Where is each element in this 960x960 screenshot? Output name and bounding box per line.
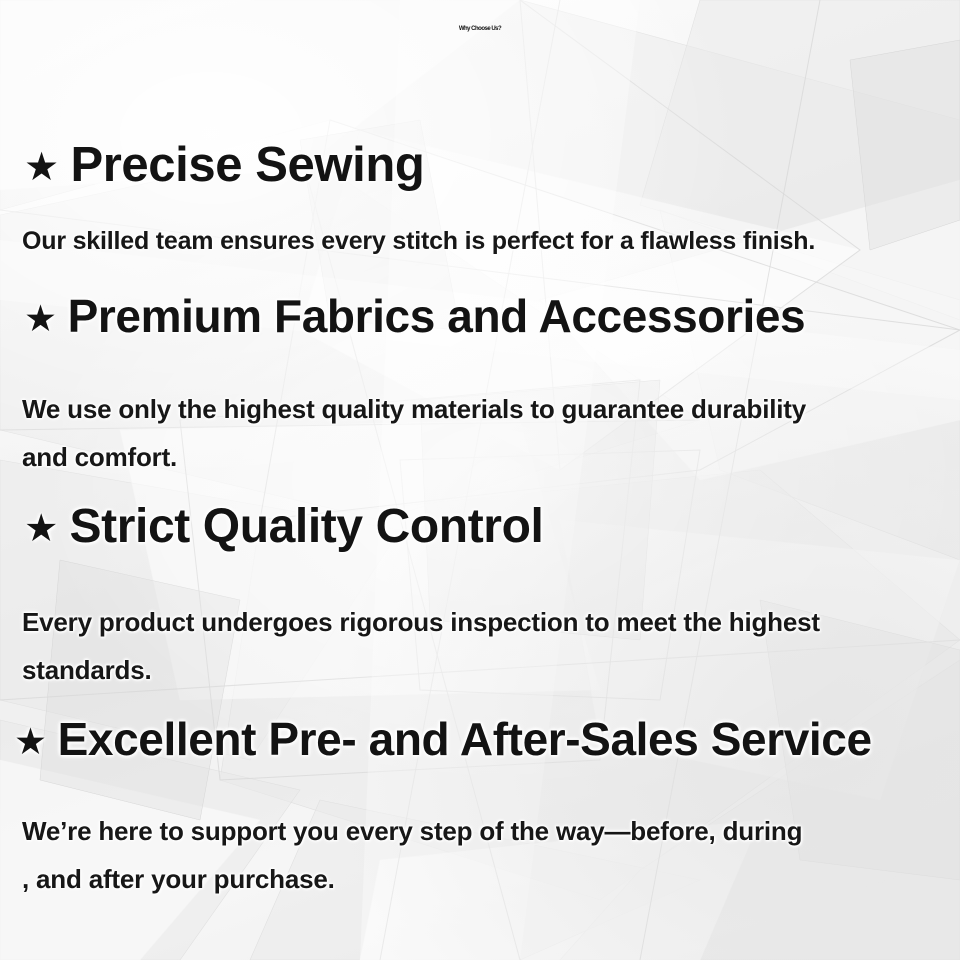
feature-item-excellent-pre-and-after-sales-service: ★Excellent Pre- and After-Sales Service … bbox=[0, 716, 960, 903]
feature-body: Our skilled team ensures every stitch is… bbox=[0, 218, 960, 264]
feature-item-premium-fabrics-and-accessories: ★Premium Fabrics and Accessories We use … bbox=[0, 293, 960, 481]
feature-heading-label: Precise Sewing bbox=[70, 138, 424, 192]
why-choose-us-poster: Why Choose Us? ★Precise Sewing Our skill… bbox=[0, 0, 960, 960]
feature-heading-label: Premium Fabrics and Accessories bbox=[68, 290, 806, 342]
feature-body-line: and comfort. bbox=[22, 433, 956, 481]
feature-item-precise-sewing: ★Precise Sewing Our skilled team ensures… bbox=[0, 141, 960, 264]
star-icon: ★ bbox=[24, 301, 57, 338]
feature-heading: ★Precise Sewing bbox=[0, 141, 960, 190]
star-icon: ★ bbox=[14, 724, 47, 761]
feature-item-strict-quality-control: ★Strict Quality Control Every product un… bbox=[0, 503, 960, 694]
feature-body-line: Our skilled team ensures every stitch is… bbox=[22, 218, 956, 264]
star-icon: ★ bbox=[24, 148, 59, 187]
feature-body: We’re here to support you every step of … bbox=[0, 807, 960, 903]
feature-heading: ★Premium Fabrics and Accessories bbox=[0, 293, 960, 339]
feature-body-line: Every product undergoes rigorous inspect… bbox=[22, 598, 956, 646]
feature-heading: ★Strict Quality Control bbox=[0, 503, 960, 551]
feature-body: We use only the highest quality material… bbox=[0, 385, 960, 481]
feature-body-line: We’re here to support you every step of … bbox=[22, 807, 956, 855]
feature-heading-label: Excellent Pre- and After-Sales Service bbox=[58, 713, 872, 765]
feature-heading-label: Strict Quality Control bbox=[70, 500, 544, 553]
feature-body: Every product undergoes rigorous inspect… bbox=[0, 598, 960, 694]
feature-body-line: , and after your purchase. bbox=[22, 855, 956, 903]
feature-body-line: We use only the highest quality material… bbox=[22, 385, 956, 433]
page-title: Why Choose Us? bbox=[0, 26, 960, 32]
poster-content: Why Choose Us? ★Precise Sewing Our skill… bbox=[0, 0, 960, 960]
star-icon: ★ bbox=[24, 510, 58, 548]
feature-heading: ★Excellent Pre- and After-Sales Service bbox=[0, 716, 960, 762]
feature-body-line: standards. bbox=[22, 646, 956, 694]
